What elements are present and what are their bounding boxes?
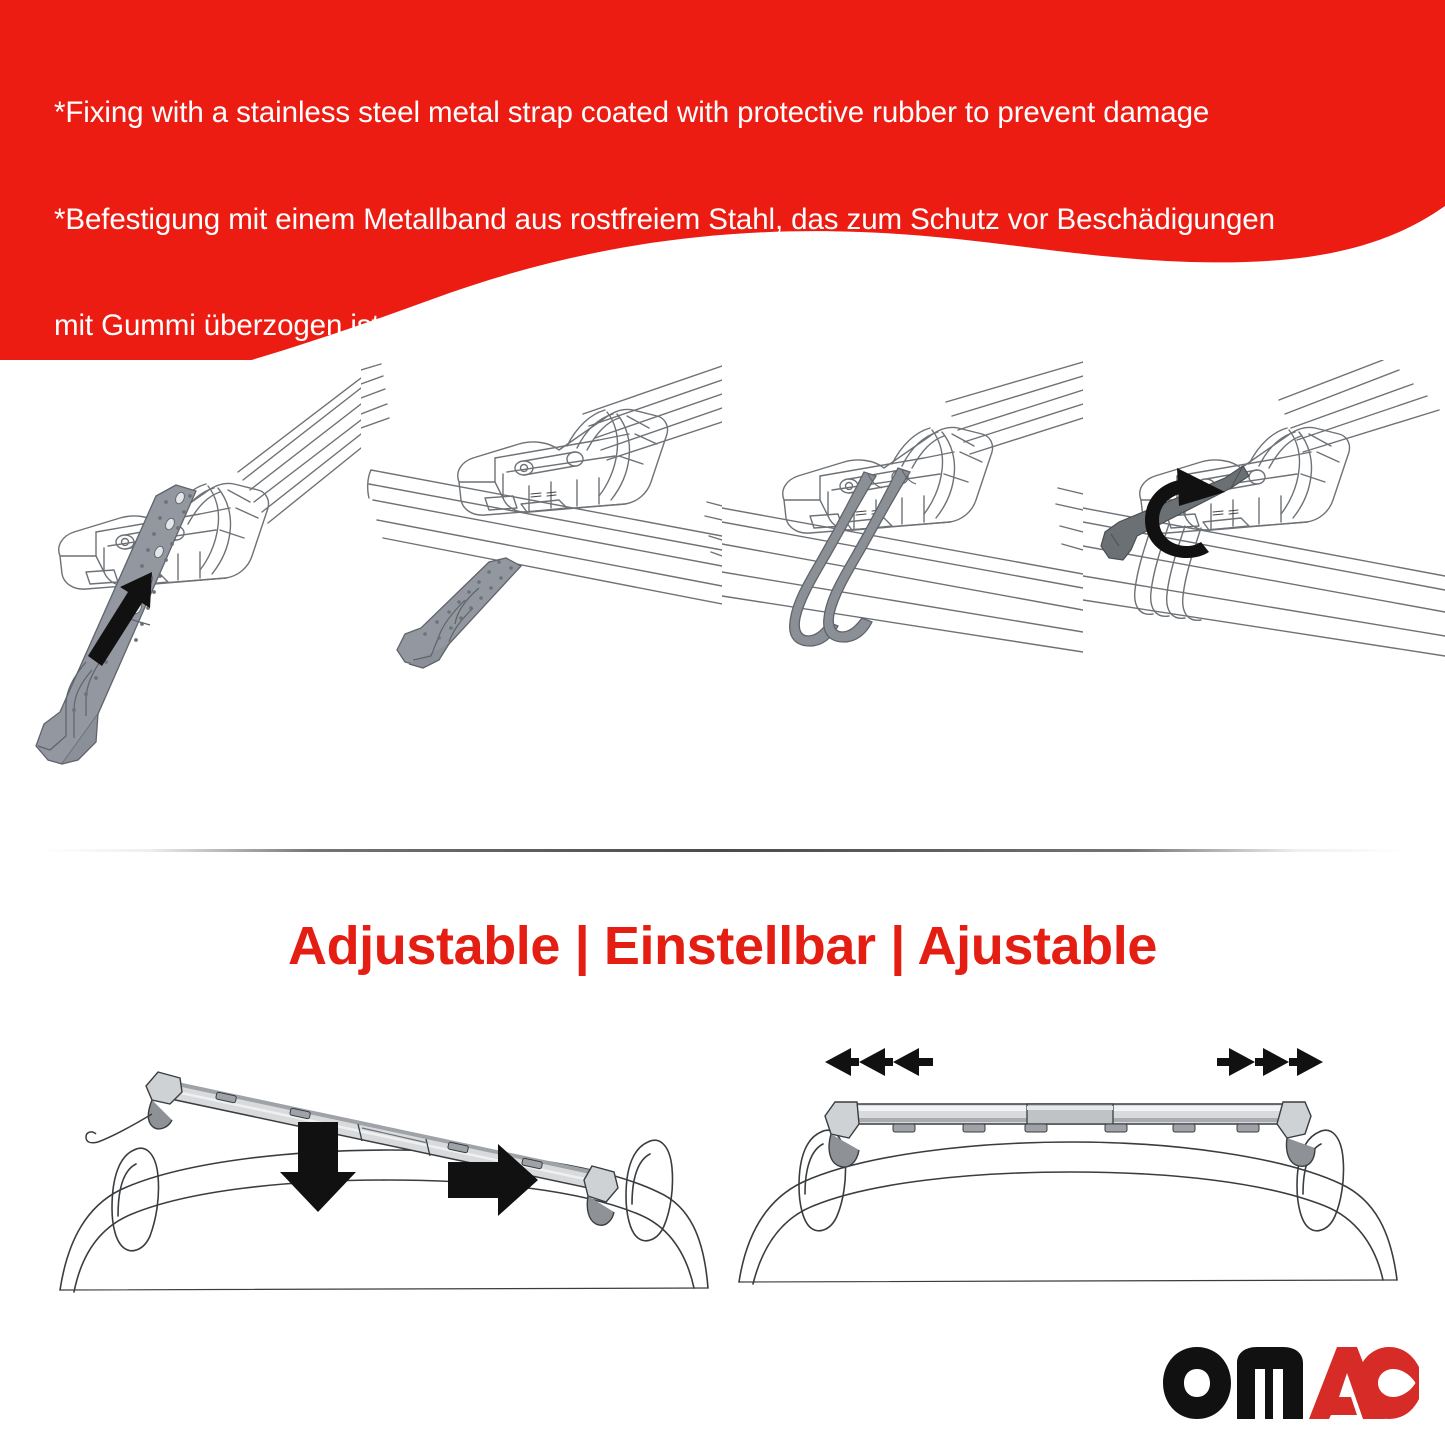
triple-left-arrow-icon (825, 1048, 933, 1076)
step-2-foot-placed-on-rail (361, 360, 722, 830)
step-4-tighten-with-allen-key (1083, 360, 1445, 830)
omac-logo-mark (1161, 1345, 1421, 1421)
logo-letter-m (1237, 1347, 1303, 1419)
step-1-insert-strap-into-foot (0, 360, 361, 830)
adjustable-diagrams (0, 1030, 1445, 1320)
wrapped-strap-icon (790, 468, 916, 646)
banner-line-3: mit Gummi überzogen ist (54, 308, 1424, 344)
omac-logo (1161, 1345, 1421, 1421)
crossbar-lowering-diagram (40, 1030, 720, 1320)
logo-letter-o (1163, 1347, 1231, 1419)
logo-letter-c (1357, 1347, 1419, 1419)
triple-right-arrow-icon (1217, 1048, 1323, 1076)
adjustable-heading: Adjustable | Einstellbar | Ajustable (0, 915, 1445, 977)
installation-steps-strip (0, 360, 1445, 830)
metal-strap-icon (397, 558, 521, 668)
crossbar-width-adjust-diagram (725, 1030, 1415, 1320)
banner-line-1: *Fixing with a stainless steel metal str… (54, 95, 1424, 131)
step-3-strap-wrapped-around-rail (722, 360, 1083, 830)
header-banner: *Fixing with a stainless steel metal str… (0, 0, 1445, 360)
banner-line-2: *Befestigung mit einem Metallband aus ro… (54, 202, 1424, 238)
crossbar-icon (825, 1102, 1315, 1167)
section-divider (40, 849, 1405, 852)
